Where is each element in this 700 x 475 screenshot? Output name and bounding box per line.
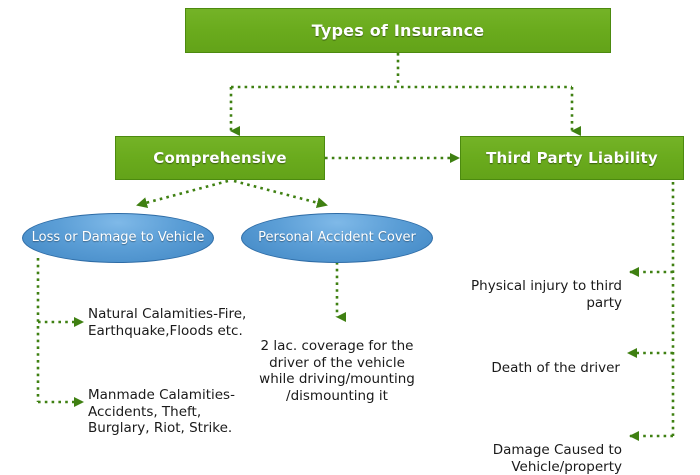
node-loss-or-damage-to-vehicle[interactable]: Loss or Damage to Vehicle: [22, 213, 214, 263]
leaf-label: Physical injury to third party: [471, 278, 622, 310]
leaf-manmade-calamities: Manmade Calamities-Accidents, Theft, Bur…: [88, 371, 258, 437]
node-label: Third Party Liability: [486, 149, 658, 167]
diagram-canvas: Types of Insurance Comprehensive Third P…: [0, 0, 700, 475]
node-label: Comprehensive: [153, 149, 286, 167]
node-label: Types of Insurance: [312, 21, 485, 40]
leaf-personal-accident-coverage: 2 lac. coverage for the driver of the ve…: [253, 322, 421, 404]
leaf-label: Manmade Calamities-Accidents, Theft, Bur…: [88, 387, 235, 436]
leaf-natural-calamities: Natural Calamities-Fire, Earthquake,Floo…: [88, 290, 248, 339]
node-types-of-insurance[interactable]: Types of Insurance: [185, 8, 611, 53]
node-third-party-liability[interactable]: Third Party Liability: [460, 136, 684, 180]
leaf-physical-injury-third-party: Physical injury to third party: [458, 262, 622, 311]
node-personal-accident-cover[interactable]: Personal Accident Cover: [241, 213, 433, 263]
leaf-label: 2 lac. coverage for the driver of the ve…: [259, 338, 415, 403]
leaf-damage-caused-to-vehicle: Damage Caused to Vehicle/property: [452, 426, 622, 475]
node-label: Loss or Damage to Vehicle: [32, 230, 205, 245]
connector-comprehensive-to-personal: [234, 181, 326, 205]
node-label: Personal Accident Cover: [258, 230, 416, 245]
leaf-label: Death of the driver: [491, 360, 620, 376]
leaf-label: Natural Calamities-Fire, Earthquake,Floo…: [88, 306, 246, 338]
connector-comprehensive-to-loss: [138, 181, 228, 205]
leaf-death-of-driver: Death of the driver: [450, 344, 620, 377]
leaf-label: Damage Caused to Vehicle/property: [493, 442, 622, 474]
node-comprehensive[interactable]: Comprehensive: [115, 136, 325, 180]
